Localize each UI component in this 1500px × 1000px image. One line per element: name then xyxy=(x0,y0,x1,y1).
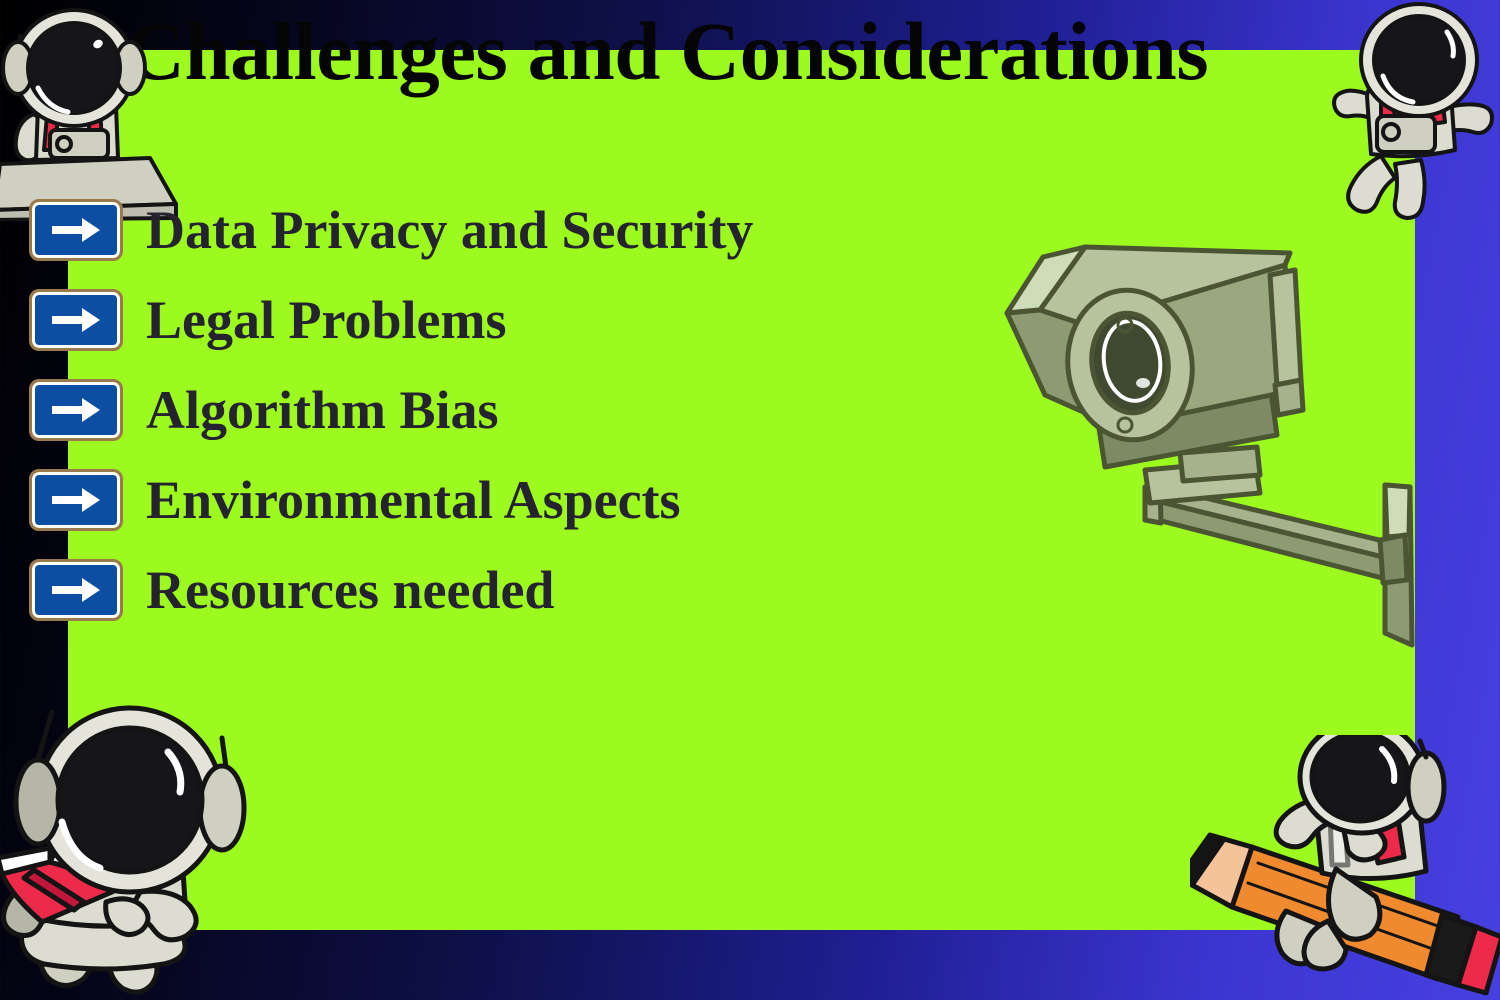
page-title: Challenges and Considerations xyxy=(125,8,1325,95)
list-item-label: Environmental Aspects xyxy=(146,473,681,527)
bullet-list: Data Privacy and Security Legal Problems… xyxy=(32,185,753,635)
arrow-right-icon xyxy=(32,562,120,618)
arrow-right-icon xyxy=(32,382,120,438)
list-item-label: Algorithm Bias xyxy=(146,383,499,437)
list-item[interactable]: Legal Problems xyxy=(32,275,753,365)
list-item-label: Data Privacy and Security xyxy=(146,203,753,257)
arrow-right-icon xyxy=(32,472,120,528)
astronaut-riding-pencil-icon xyxy=(1190,735,1500,1000)
astronaut-floating-icon xyxy=(1325,0,1500,222)
arrow-right-icon xyxy=(32,202,120,258)
list-item-label: Resources needed xyxy=(146,563,554,617)
astronaut-reading-book-icon xyxy=(0,690,255,1000)
list-item[interactable]: Data Privacy and Security xyxy=(32,185,753,275)
list-item[interactable]: Resources needed xyxy=(32,545,753,635)
list-item[interactable]: Algorithm Bias xyxy=(32,365,753,455)
arrow-right-icon xyxy=(32,292,120,348)
cctv-security-camera-icon xyxy=(985,235,1435,655)
list-item[interactable]: Environmental Aspects xyxy=(32,455,753,545)
list-item-label: Legal Problems xyxy=(146,293,506,347)
